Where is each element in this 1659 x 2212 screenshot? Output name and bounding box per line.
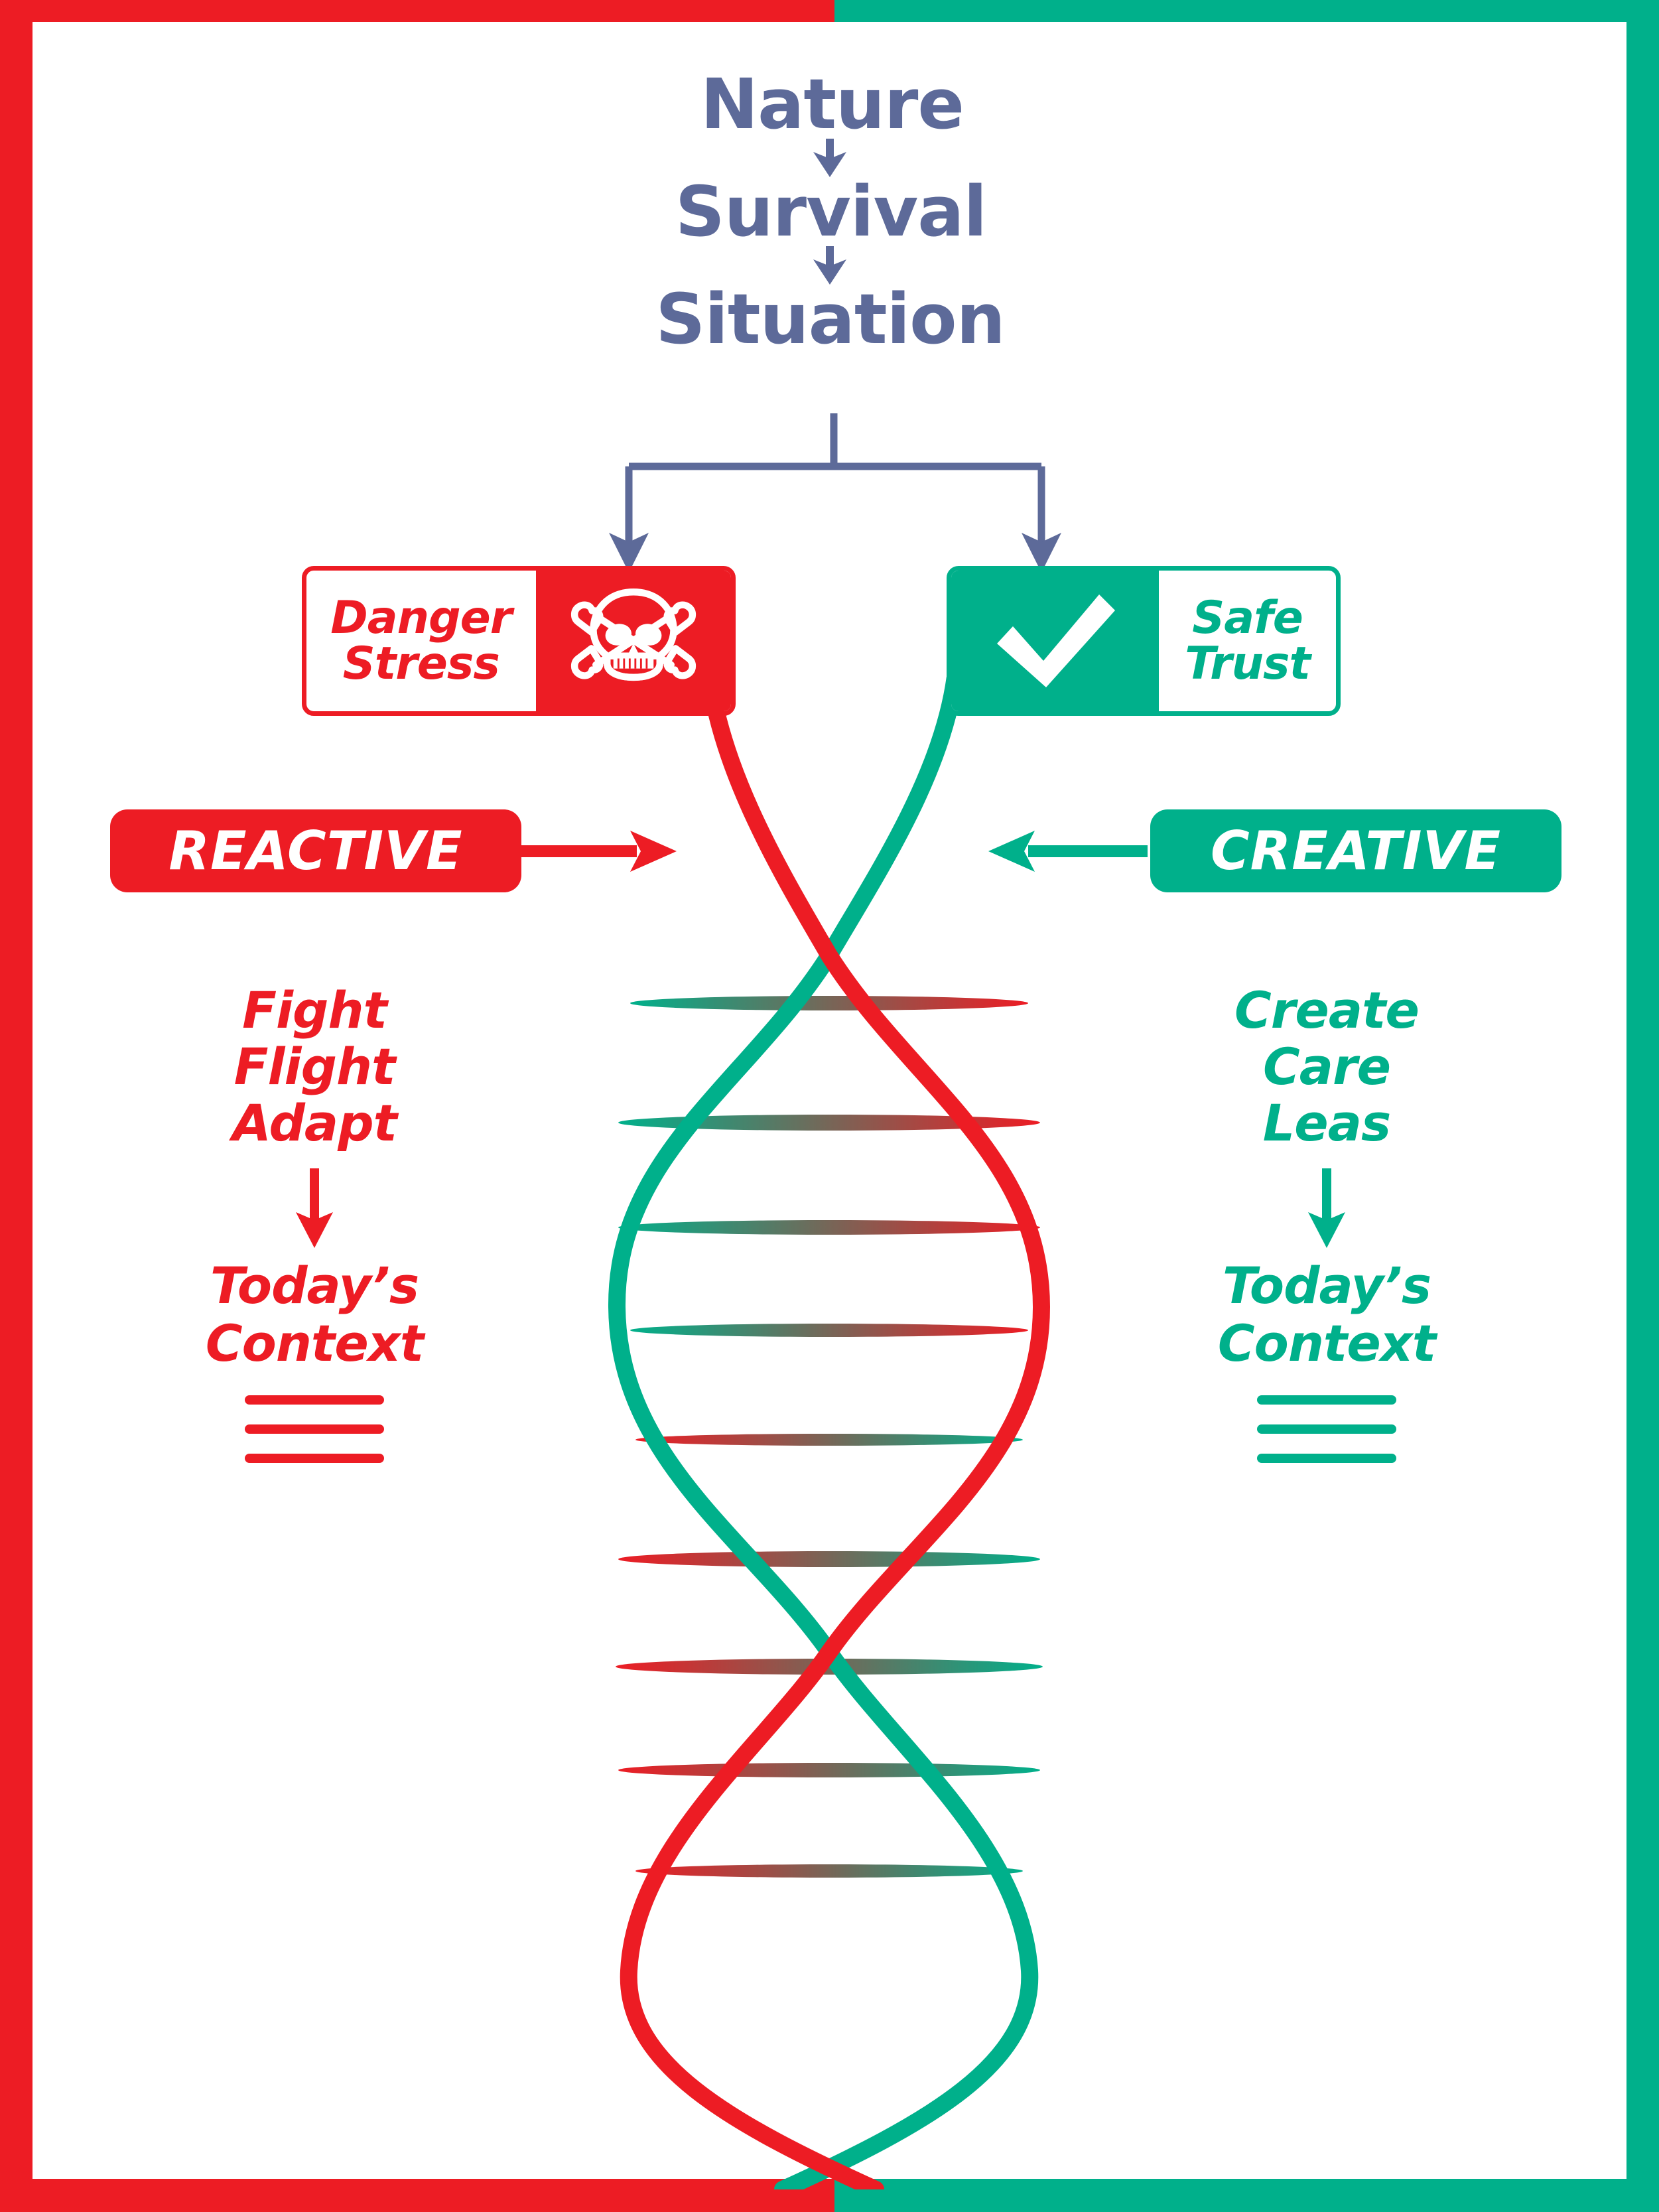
border-top-left [0,0,834,22]
border-top-right [834,0,1659,22]
danger-icon-pane [536,571,731,711]
reactive-today-context: Today’s Context [175,1257,454,1372]
danger-stress-sign[interactable]: Danger Stress [302,566,736,716]
dna-strand-red [629,677,1041,2189]
reactive-word-list: Fight Flight Adapt [175,982,454,1151]
creative-word-0: Create [1187,982,1466,1038]
creative-word-1: Care [1187,1038,1466,1095]
arrow-left-icon [988,831,1148,872]
safe-line-2: Trust [1185,641,1310,687]
skull-and-crossbones-icon [570,583,697,699]
safe-line-1: Safe [1192,595,1303,641]
reactive-word-2: Adapt [175,1095,454,1151]
headline-word-situation: Situation [1,285,1659,354]
dna-double-helix-icon [584,677,1075,2189]
creative-column: Create Care Leas Today’s Context [1187,982,1466,1463]
danger-line-2: Stress [343,641,499,687]
creative-word-list: Create Care Leas [1187,982,1466,1151]
safe-sign-label: Safe Trust [1159,571,1336,711]
creative-today-line-2: Context [1187,1315,1466,1373]
headline-word-survival: Survival [3,177,1659,246]
headline-stack: Nature Survival Situation [0,70,1659,354]
arrow-down-icon [1294,1168,1360,1248]
safe-icon-pane [951,571,1159,711]
reactive-today-line-2: Context [175,1315,454,1373]
creative-pill-label: CREATIVE [1211,820,1501,882]
creative-rules [1187,1395,1466,1463]
headline-word-nature: Nature [5,70,1659,139]
safe-trust-sign[interactable]: Safe Trust [947,566,1341,716]
reactive-rule-line [245,1395,384,1405]
reactive-word-0: Fight [175,982,454,1038]
dna-strand-teal [617,677,1029,2189]
checkmark-icon [989,588,1122,694]
reactive-pill-label: REACTIVE [168,820,462,882]
reactive-column: Fight Flight Adapt Today’s Context [175,982,454,1463]
arrow-right-icon [517,831,677,872]
creative-pill[interactable]: CREATIVE [1150,809,1561,892]
reactive-today-line-1: Today’s [175,1257,454,1315]
creative-rule-line [1257,1395,1396,1405]
reactive-rule-line [245,1424,384,1434]
creative-today-context: Today’s Context [1187,1257,1466,1372]
poster-canvas: Nature Survival Situation Dan [0,0,1659,2212]
danger-sign-label: Danger Stress [306,571,536,711]
reactive-pill[interactable]: REACTIVE [110,809,521,892]
creative-word-2: Leas [1187,1095,1466,1151]
reactive-rule-line [245,1454,384,1463]
creative-today-line-1: Today’s [1187,1257,1466,1315]
reactive-word-1: Flight [175,1038,454,1095]
reactive-rules [175,1395,454,1463]
creative-rule-line [1257,1454,1396,1463]
arrow-down-icon [281,1168,348,1248]
creative-rule-line [1257,1424,1396,1434]
danger-line-1: Danger [330,595,511,641]
